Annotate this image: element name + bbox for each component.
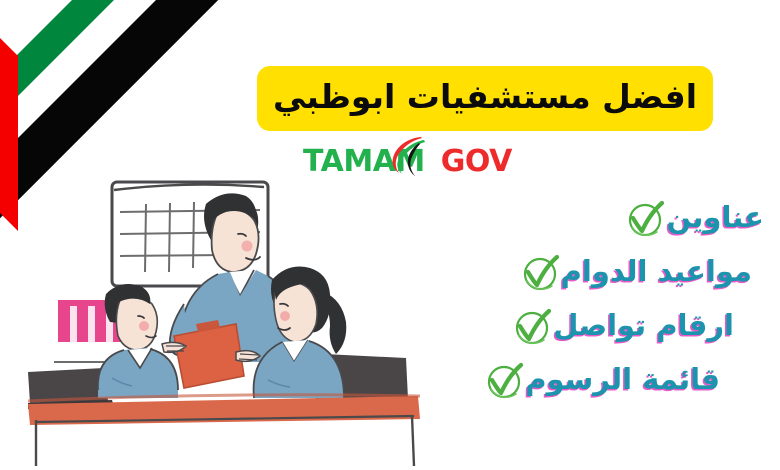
flag-stripe-red: [0, 0, 18, 231]
checklist-item-contact-numbers[interactable]: ارقام تواصل: [501, 304, 734, 350]
check-circle-icon: [626, 199, 666, 239]
feature-checklist: عناوين مواعيد الدوام ارقام تواصل: [430, 192, 770, 432]
checklist-item-working-hours[interactable]: مواعيد الدوام: [509, 250, 752, 296]
page-title: افضل مستشفيات ابوظبي: [273, 80, 697, 117]
reception-desk: [28, 395, 420, 466]
checklist-item-addresses[interactable]: عناوين: [614, 196, 764, 242]
checklist-item-label: مواعيد الدوام: [561, 257, 752, 290]
checklist-item-label: ارقام تواصل: [553, 311, 734, 344]
checklist-item-label: قائمة الرسوم: [525, 365, 720, 398]
logo-text-gov: GOV: [441, 147, 512, 177]
poster-canvas: افضل مستشفيات ابوظبي TAMAM GOV عناوين: [0, 0, 780, 470]
check-circle-icon: [485, 361, 525, 401]
check-circle-icon: [521, 253, 561, 293]
checklist-item-label: عناوين: [666, 203, 764, 236]
uae-swoosh-icon: [389, 135, 429, 179]
flag-stripe-green: [0, 0, 230, 198]
medical-staff-illustration: [28, 176, 428, 466]
checklist-item-fee-list[interactable]: قائمة الرسوم: [473, 358, 720, 404]
check-circle-icon: [513, 307, 553, 347]
title-banner: افضل مستشفيات ابوظبي: [257, 66, 713, 131]
